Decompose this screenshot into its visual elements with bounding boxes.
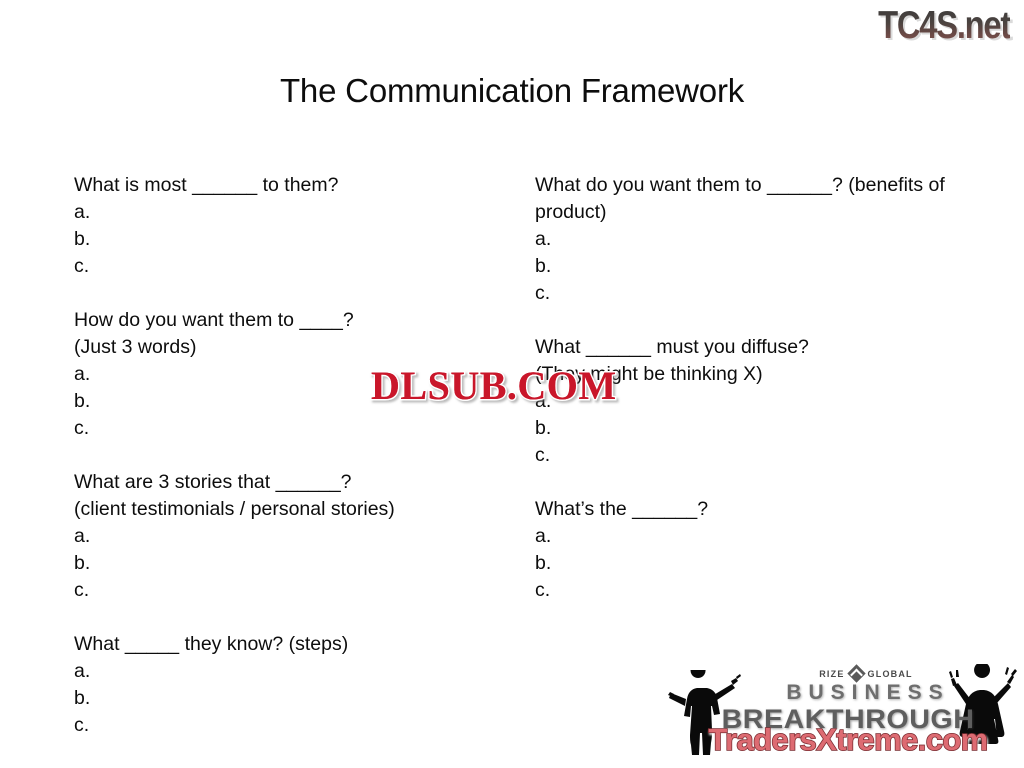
question-prompt: What do you want them to ______? (benefi… [535,172,995,226]
question-block: What is most ______ to them?a.b.c. [74,172,504,280]
answer-line[interactable]: a. [535,523,995,550]
answer-line[interactable]: b. [535,253,995,280]
answer-line[interactable]: c. [74,577,504,604]
rize-global-left-label: RIZE [819,669,844,679]
rize-global-eyebrow: RIZE GLOBAL [786,667,946,680]
answer-line[interactable]: a. [74,199,504,226]
answer-line[interactable]: c. [74,253,504,280]
question-note: (Just 3 words) [74,334,504,361]
answer-line[interactable]: c. [535,280,995,307]
answer-line[interactable]: c. [535,577,995,604]
question-block: What do you want them to ______? (benefi… [535,172,995,307]
tradersxtreme-watermark: TradersXtreme.com [678,722,1018,758]
question-prompt: What _____ they know? (steps) [74,631,504,658]
question-block: What are 3 stories that ______?(client t… [74,469,504,604]
page-title: The Communication Framework [0,72,1024,110]
answer-line[interactable]: a. [74,523,504,550]
answer-line[interactable]: b. [535,415,995,442]
answer-line[interactable]: b. [74,685,504,712]
answer-line[interactable]: c. [74,415,504,442]
question-block: What _____ they know? (steps)a.b.c. [74,631,504,739]
brand-word-business: BUSINESS [770,681,966,705]
question-prompt: What are 3 stories that ______? [74,469,504,496]
slide-canvas: TC4S.net TC4S.net The Communication Fram… [0,0,1024,768]
answer-line[interactable]: c. [74,712,504,739]
rize-diamond-icon [847,664,865,682]
answer-line[interactable]: a. [535,226,995,253]
question-prompt: What is most ______ to them? [74,172,504,199]
dlsub-watermark: DLSUB.COM [371,362,617,409]
answer-line[interactable]: b. [535,550,995,577]
question-block: What’s the ______?a.b.c. [535,496,995,604]
rize-global-right-label: GLOBAL [868,669,913,679]
question-note: (client testimonials / personal stories) [74,496,504,523]
left-column: What is most ______ to them?a.b.c.How do… [74,172,504,739]
answer-line[interactable]: a. [74,658,504,685]
answer-line[interactable]: b. [74,550,504,577]
answer-line[interactable]: b. [74,226,504,253]
brand-lockup: RIZE GLOBAL BUSINESS BREAKTHROUGH Trader… [662,652,1024,768]
question-prompt: What’s the ______? [535,496,995,523]
question-prompt: How do you want them to ____? [74,307,504,334]
answer-line[interactable]: c. [535,442,995,469]
question-prompt: What ______ must you diffuse? [535,334,995,361]
site-logo: TC4S.net [878,4,1010,48]
